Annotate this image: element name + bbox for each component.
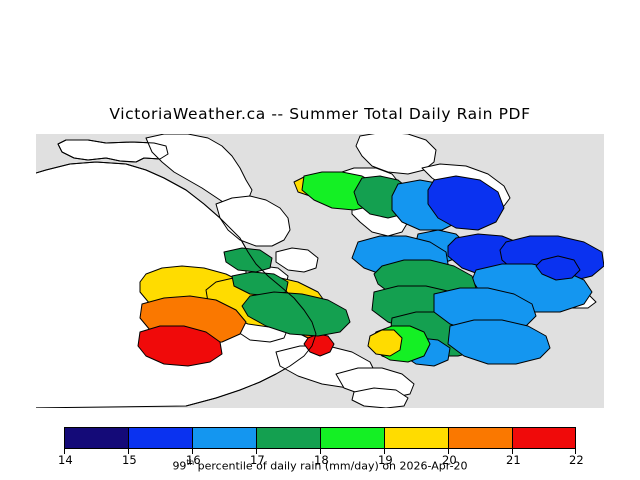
caption-suffix: percentile of daily rain (mm/day) on 202… (194, 460, 467, 473)
coastal-rain-map[interactable] (36, 134, 604, 408)
colorbar-band[interactable] (256, 427, 320, 449)
colorbar-band[interactable] (384, 427, 448, 449)
colorbar-caption: 99th percentile of daily rain (mm/day) o… (0, 458, 640, 473)
colorbar-band[interactable] (448, 427, 512, 449)
colorbar-band[interactable] (512, 427, 576, 449)
map-panel[interactable] (36, 134, 604, 408)
colorbar-band[interactable] (128, 427, 192, 449)
caption-superscript: th (186, 458, 194, 467)
colorbar-ticks: 14 15 16 17 18 19 20 21 22 (64, 449, 576, 455)
page-title: VictoriaWeather.ca -- Summer Total Daily… (0, 105, 640, 123)
colorbar-band[interactable] (64, 427, 128, 449)
colorbar-band[interactable] (192, 427, 256, 449)
caption-prefix: 99 (172, 460, 186, 473)
colorbar[interactable] (64, 427, 576, 449)
colorbar-band[interactable] (320, 427, 384, 449)
weather-map-page: VictoriaWeather.ca -- Summer Total Daily… (0, 0, 640, 480)
